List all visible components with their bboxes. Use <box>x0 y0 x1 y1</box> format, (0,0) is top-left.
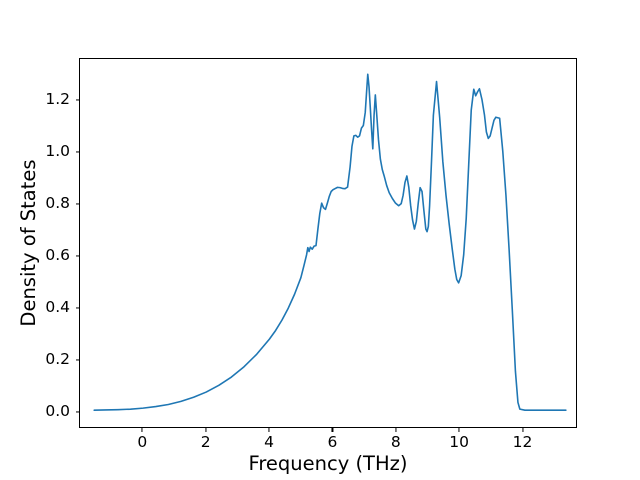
x-tick-label: 6 <box>327 433 337 451</box>
y-tick-mark <box>76 360 80 361</box>
x-tick-mark <box>205 428 206 432</box>
y-tick-mark <box>76 151 80 152</box>
x-tick-label: 8 <box>391 433 401 451</box>
y-tick-mark <box>76 255 80 256</box>
x-tick-label: 2 <box>201 433 211 451</box>
y-axis-label: Density of States <box>18 58 40 428</box>
x-tick-mark <box>269 428 270 432</box>
y-tick-label: 0.2 <box>45 350 70 368</box>
x-tick-label: 12 <box>513 433 533 451</box>
plot-axes-frame <box>79 58 577 428</box>
x-tick-label: 10 <box>449 433 469 451</box>
dos-line-plot <box>80 59 576 427</box>
y-tick-mark <box>76 412 80 413</box>
y-tick-mark <box>76 203 80 204</box>
y-tick-label: 1.0 <box>45 142 70 160</box>
y-tick-label: 1.2 <box>45 90 70 108</box>
x-tick-mark <box>522 428 523 432</box>
x-tick-mark <box>395 428 396 432</box>
y-tick-label: 0.0 <box>45 402 70 420</box>
y-tick-label: 0.6 <box>45 246 70 264</box>
x-tick-mark <box>142 428 143 432</box>
dos-curve <box>94 74 566 410</box>
x-tick-mark <box>459 428 460 432</box>
x-tick-mark <box>332 428 333 432</box>
y-tick-label: 0.8 <box>45 194 70 212</box>
y-tick-mark <box>76 307 80 308</box>
x-tick-label: 4 <box>264 433 274 451</box>
y-tick-label: 0.4 <box>45 298 70 316</box>
x-tick-label: 0 <box>137 433 147 451</box>
x-axis-label: Frequency (THz) <box>79 452 577 475</box>
figure-canvas: Density of States Frequency (THz) 0.00.2… <box>0 0 640 480</box>
y-tick-mark <box>76 99 80 100</box>
